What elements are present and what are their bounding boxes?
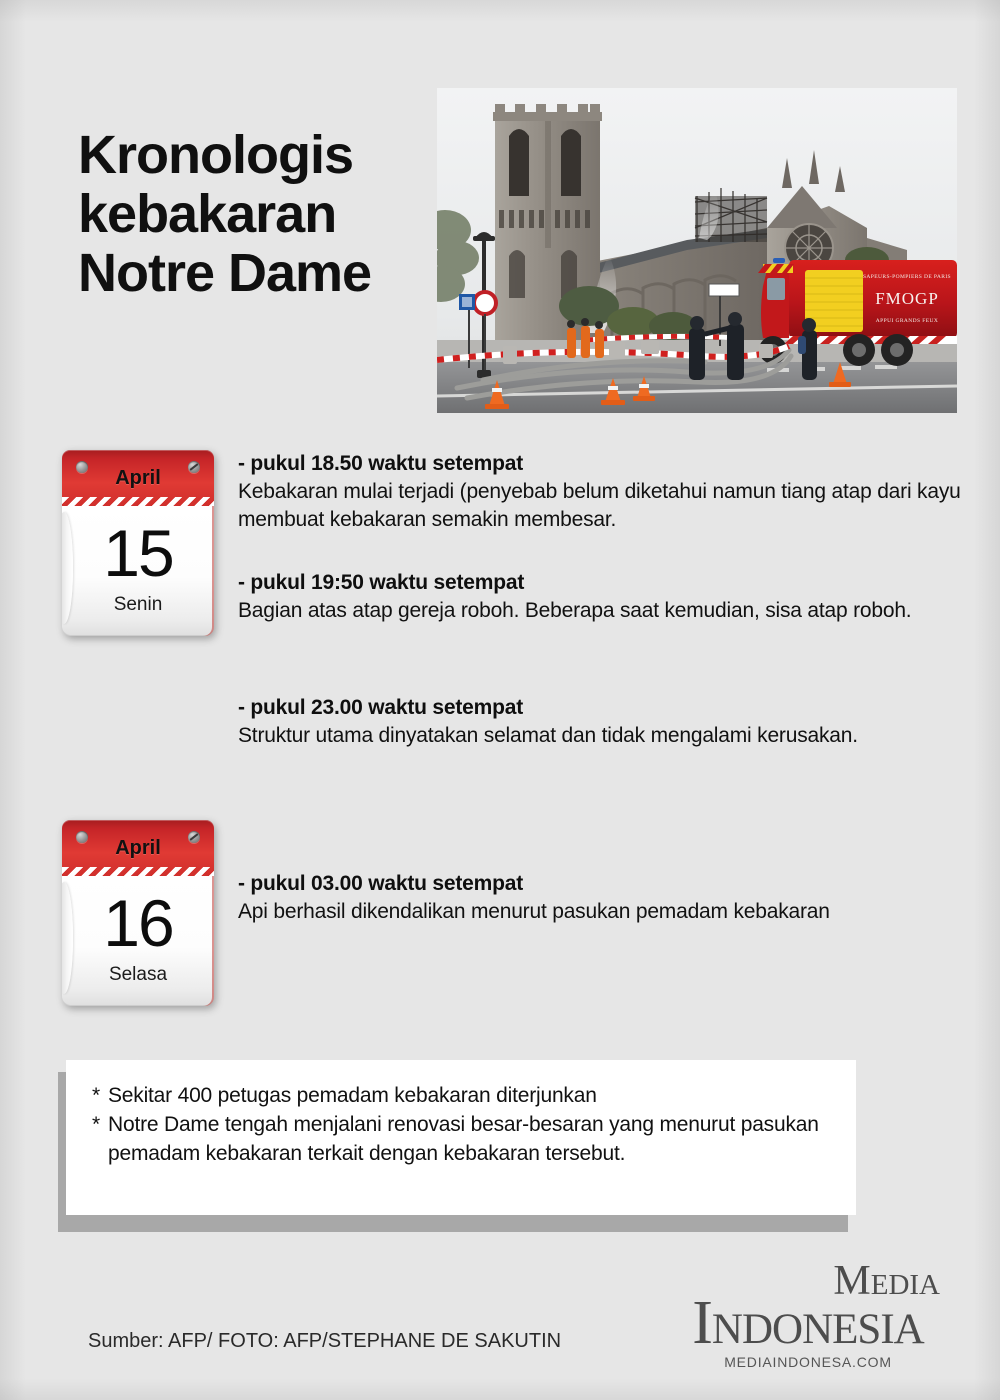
note-item: * Sekitar 400 petugas pemadam kebakaran … xyxy=(92,1082,830,1111)
calendar-perforation xyxy=(62,497,214,506)
calendar-month-label: April xyxy=(62,837,214,860)
page-title-line-2: kebakaran xyxy=(78,185,438,244)
entry-time-label: - pukul 19:50 waktu setempat xyxy=(238,571,968,595)
calendar-day-number: 15 xyxy=(62,520,214,586)
calendar-month-label: April xyxy=(62,467,214,490)
timeline-entry-3: - pukul 23.00 waktu setempat Struktur ut… xyxy=(238,696,968,750)
hazard-chevrons xyxy=(758,264,794,273)
entry-description: Kebakaran mulai terjadi (penyebab belum … xyxy=(238,478,968,534)
entry-description: Bagian atas atap gereja roboh. Beberapa … xyxy=(238,597,968,625)
note-item: * Notre Dame tengah menjalani renovasi b… xyxy=(92,1111,830,1169)
note-text: Sekitar 400 petugas pemadam kebakaran di… xyxy=(108,1082,830,1111)
calendar-april-16: April 16 Selasa xyxy=(62,820,214,1006)
svg-text:SAPEURS-POMPIERS DE PARIS: SAPEURS-POMPIERS DE PARIS xyxy=(863,274,951,280)
notes-box: * Sekitar 400 petugas pemadam kebakaran … xyxy=(66,1060,856,1215)
page-title: Kronologis kebakaran Notre Dame xyxy=(78,126,438,303)
calendar-body: 15 Senin xyxy=(62,506,214,636)
calendar-body: 16 Selasa xyxy=(62,876,214,1006)
note-text: Notre Dame tengah menjalani renovasi bes… xyxy=(108,1111,830,1169)
calendar-perforation xyxy=(62,867,214,876)
media-indonesia-logo: Media Indonesia MEDIAINDONESA.COM xyxy=(658,1262,958,1370)
logo-line-indonesia: Indonesia xyxy=(658,1295,958,1352)
entry-description: Struktur utama dinyatakan selamat dan ti… xyxy=(238,722,968,750)
bullet-star-icon: * xyxy=(92,1111,108,1169)
entry-time-label: - pukul 23.00 waktu setempat xyxy=(238,696,968,720)
timeline-entry-4: - pukul 03.00 waktu setempat Api berhasi… xyxy=(238,872,968,926)
page-title-line-1: Kronologis xyxy=(78,126,438,185)
bullet-star-icon: * xyxy=(92,1082,108,1111)
calendar-weekday-label: Selasa xyxy=(62,964,214,986)
timeline-entry-2: - pukul 19:50 waktu setempat Bagian atas… xyxy=(238,571,968,625)
svg-text:FMOGP: FMOGP xyxy=(875,289,939,308)
svg-text:APPUI GRANDS FEUX: APPUI GRANDS FEUX xyxy=(876,318,938,324)
photo-illustration: SAPEURS-POMPIERS DE PARIS FMOGP APPUI GR… xyxy=(437,88,957,413)
calendar-day-number: 16 xyxy=(62,890,214,956)
calendar-april-15: April 15 Senin xyxy=(62,450,214,636)
entry-time-label: - pukul 18.50 waktu setempat xyxy=(238,452,968,476)
notes-box-wrapper: * Sekitar 400 petugas pemadam kebakaran … xyxy=(66,1060,856,1215)
entry-time-label: - pukul 03.00 waktu setempat xyxy=(238,872,968,896)
entry-description: Api berhasil dikendalikan menurut pasuka… xyxy=(238,898,968,926)
source-credit: Sumber: AFP/ FOTO: AFP/STEPHANE DE SAKUT… xyxy=(88,1330,561,1353)
firefighters xyxy=(567,318,604,358)
calendar-weekday-label: Senin xyxy=(62,594,214,616)
page-title-line-3: Notre Dame xyxy=(78,244,438,303)
notre-dame-fire-photo: SAPEURS-POMPIERS DE PARIS FMOGP APPUI GR… xyxy=(437,88,957,413)
timeline-entry-1: - pukul 18.50 waktu setempat Kebakaran m… xyxy=(238,452,968,534)
